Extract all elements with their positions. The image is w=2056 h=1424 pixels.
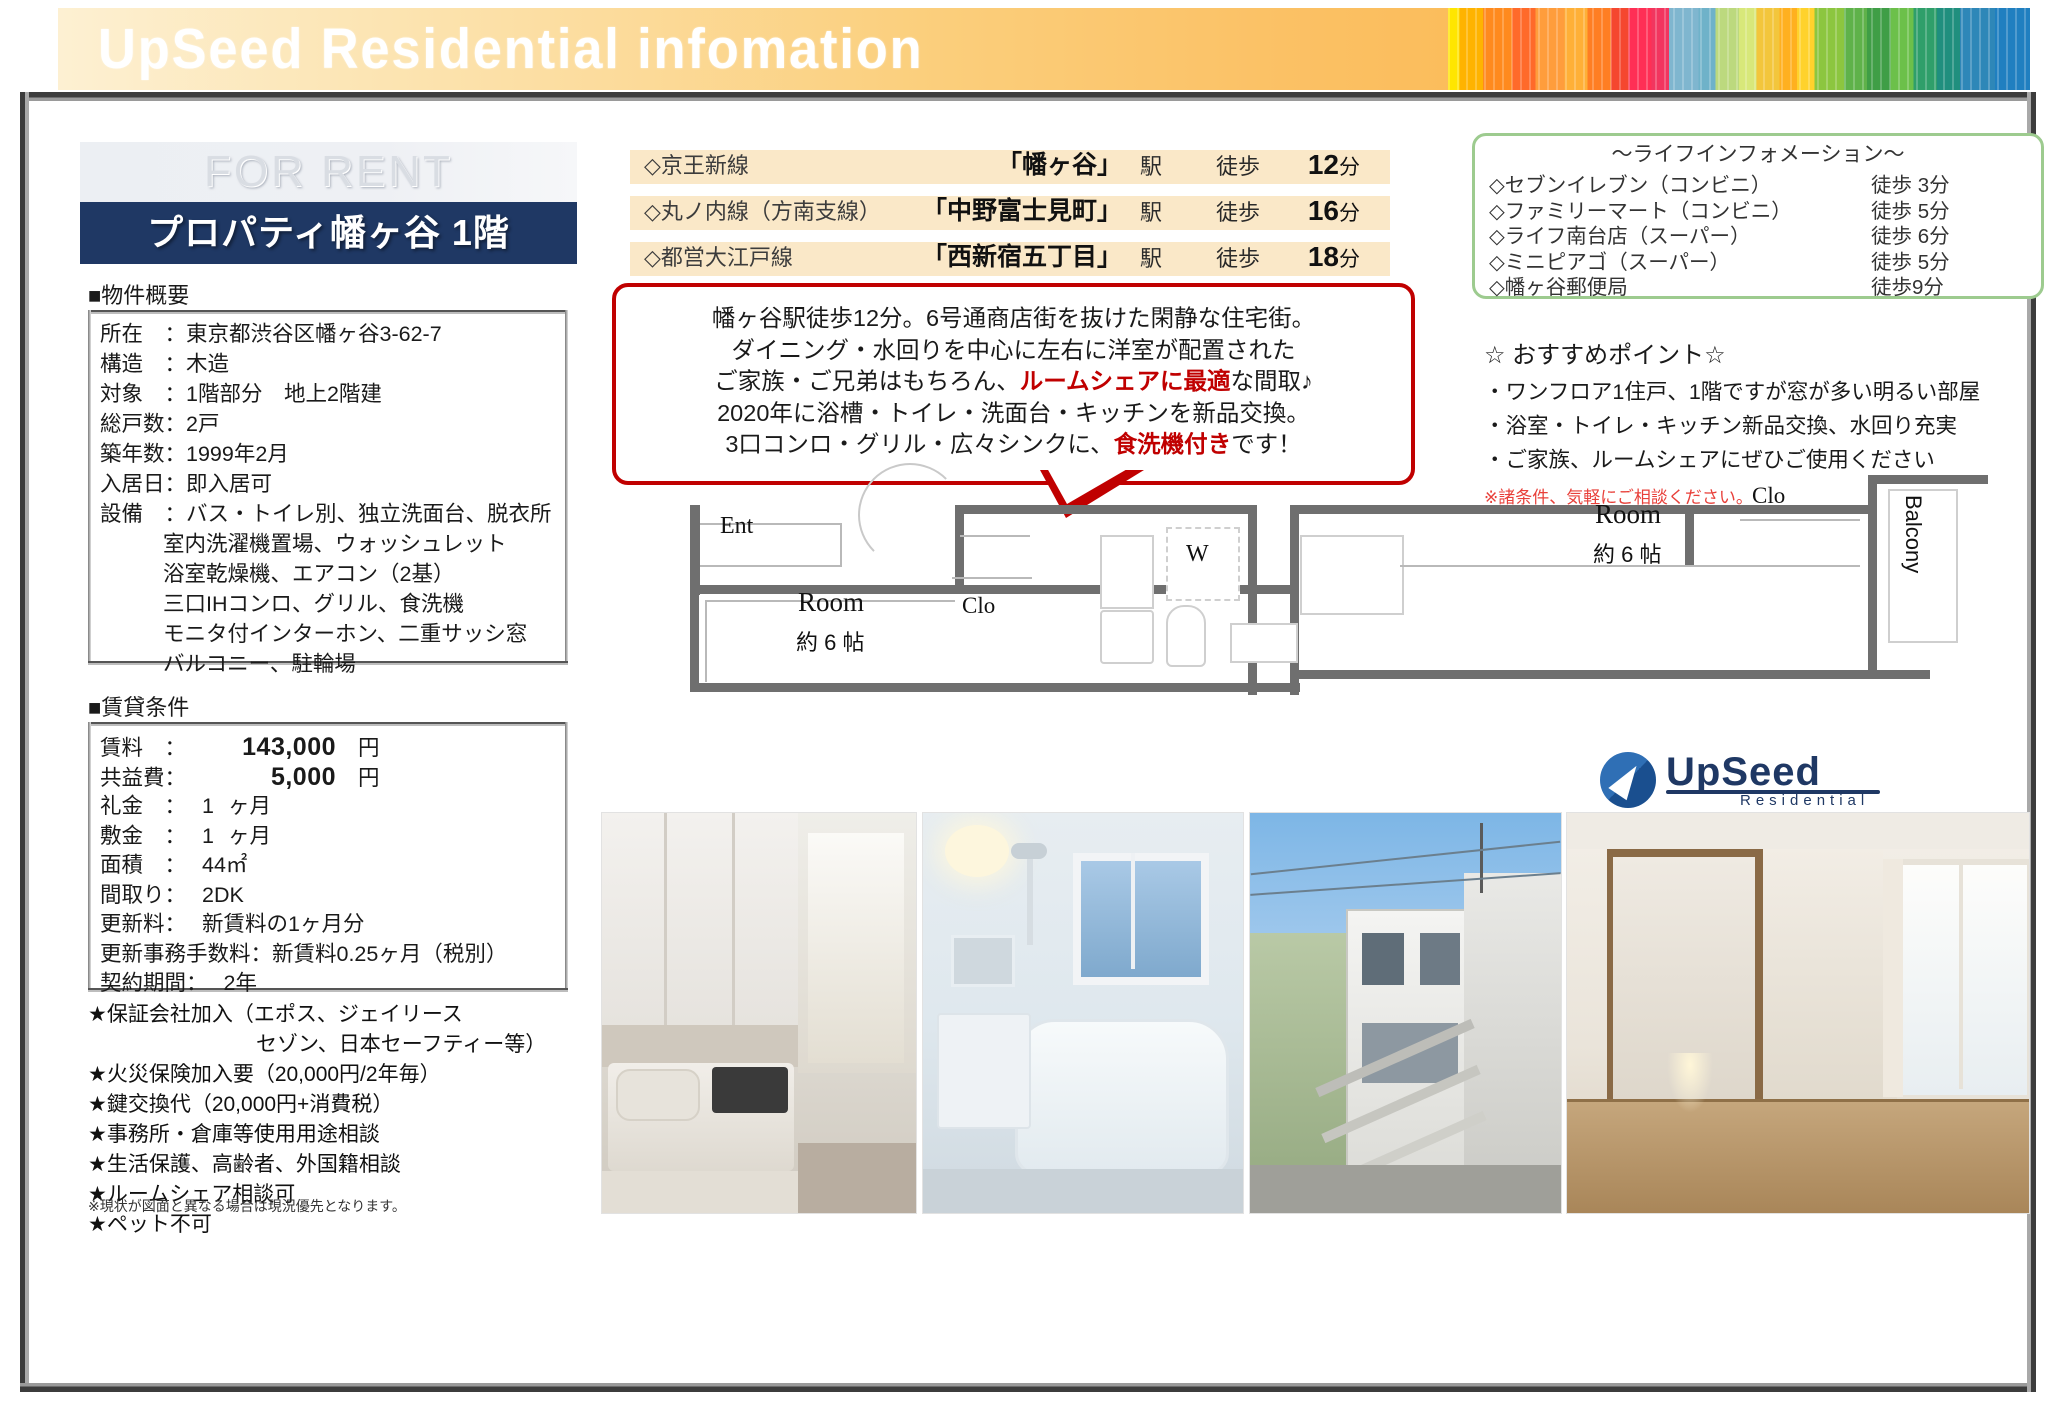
station-access-row: ◇京王新線「幡ヶ谷」駅徒歩12分 bbox=[630, 150, 1390, 184]
frame-left-border bbox=[20, 92, 29, 1392]
terms-row-value: 44㎡ bbox=[186, 851, 247, 881]
terms-row-label: 更新事務手数料：新賃料0.25ヶ月（税別） bbox=[100, 942, 507, 966]
bubble-line-3-c: な間取♪ bbox=[1231, 368, 1313, 394]
overview-equipment-row: 室内洗濯機置場、ウォッシュレット bbox=[163, 530, 507, 560]
upseed-logo-text: UpSeed bbox=[1666, 750, 1821, 795]
fp-wall bbox=[1290, 505, 1299, 695]
overview-right-rule bbox=[565, 310, 568, 665]
terms-row-label: 間取り： bbox=[100, 883, 186, 907]
fp-entrance-label: Ent bbox=[720, 513, 753, 540]
fp-line bbox=[960, 535, 1030, 537]
fp-wall bbox=[690, 683, 1300, 692]
for-rent-banner: FOR RENT bbox=[80, 142, 577, 202]
station-line-name: ◇都営大江戸線 bbox=[644, 241, 793, 275]
terms-row: 更新事務手数料：新賃料0.25ヶ月（税別） bbox=[100, 940, 507, 970]
terms-row-value: 143,000 bbox=[186, 733, 336, 763]
fp-wall bbox=[1248, 505, 1257, 695]
condition-star-item: ★火災保険加入要（20,000円/2年毎） bbox=[88, 1060, 558, 1090]
property-name-label: プロパティ幡ヶ谷 1階 bbox=[80, 202, 577, 264]
terms-row-unit: 円 bbox=[336, 766, 380, 790]
bubble-line-5-a: 3口コンロ・グリル・広々シンクに、 bbox=[725, 431, 1113, 457]
overview-row: 所在 ：東京都渋谷区幡ヶ谷3-62-7 bbox=[100, 320, 442, 350]
page-header: UpSeed Residential infomation bbox=[58, 8, 2030, 90]
fp-room-left-size: 約 6 帖 bbox=[796, 625, 864, 657]
station-walk-label: 徒歩 bbox=[1216, 242, 1260, 276]
fp-wall bbox=[1868, 475, 1988, 484]
life-information-title: ～ライフインフォメーション～ bbox=[1475, 142, 2041, 168]
footnote: ※現状が図面と異なる場合は現況優先となります。 bbox=[88, 1196, 406, 1216]
room-interior-photo bbox=[1566, 812, 2030, 1214]
terms-row-label: 面積 ： bbox=[100, 853, 186, 877]
terms-row-label: 敷金 ： bbox=[100, 824, 186, 848]
terms-row-value: 2DK bbox=[186, 881, 244, 911]
overview-equipment-row: 浴室乾燥機、エアコン（2基） bbox=[163, 560, 454, 590]
station-line-name: ◇丸ノ内線（方南支線） bbox=[644, 195, 881, 229]
terms-row: 間取り：2DK bbox=[100, 881, 244, 911]
terms-row: 礼金 ：1ヶ月 bbox=[100, 792, 271, 822]
terms-top-rule bbox=[88, 722, 568, 726]
terms-row-label: 契約期間： bbox=[100, 971, 208, 995]
overview-row: 総戸数：2戸 bbox=[100, 410, 219, 440]
station-access-row: ◇丸ノ内線（方南支線）「中野富士見町」駅徒歩16分 bbox=[630, 196, 1390, 230]
life-information-list: ◇セブンイレブン（コンビニ）徒歩 3分◇ファミリーマート（コンビニ）徒歩 5分◇… bbox=[1475, 168, 2041, 296]
station-walk-minutes: 18分 bbox=[1308, 240, 1360, 277]
terms-left-rule bbox=[88, 722, 91, 992]
fp-line bbox=[952, 577, 1032, 579]
comment-bubble: 幡ヶ谷駅徒歩12分。6号通商店街を抜けた閑静な住宅街。 ダイニング・水回りを中心… bbox=[612, 283, 1415, 485]
station-line-name: ◇京王新線 bbox=[644, 149, 749, 183]
station-name: 「中野富士見町」 bbox=[922, 194, 1122, 228]
recommended-points-list: ・ワンフロア1住戸、1階ですが窓が多い明るい部屋・浴室・トイレ・キッチン新品交換… bbox=[1484, 375, 1980, 477]
life-information-item: ◇セブンイレブン（コンビニ）徒歩 3分 bbox=[1475, 168, 2041, 194]
floor-plan: Ent Room 約 6 帖 Clo W Room 約 6 帖 Clo Balc… bbox=[600, 505, 1920, 765]
station-eki-suffix: 駅 bbox=[1140, 242, 1162, 276]
terms-row-unit: 円 bbox=[336, 736, 380, 760]
upseed-mark-icon bbox=[1600, 752, 1656, 808]
fp-wall bbox=[1685, 505, 1694, 565]
fp-line bbox=[700, 565, 840, 567]
station-eki-suffix: 駅 bbox=[1140, 196, 1162, 230]
bubble-line-3-a: ご家族・ご兄弟はもちろん、 bbox=[714, 368, 1020, 394]
terms-row-label: 共益費： bbox=[100, 766, 186, 790]
station-walk-minutes: 12分 bbox=[1308, 148, 1360, 185]
overview-row: 構造 ：木造 bbox=[100, 350, 229, 380]
station-walk-minutes: 16分 bbox=[1308, 194, 1360, 231]
fp-room-right-size: 約 6 帖 bbox=[1593, 537, 1661, 569]
overview-equipment-row: バルコニー、駐輪場 bbox=[163, 650, 356, 680]
fp-kitchen-unit bbox=[1100, 535, 1154, 609]
fp-wall bbox=[1290, 670, 1930, 679]
overview-left-rule bbox=[88, 310, 91, 665]
overview-row: 設備 ：バス・トイレ別、独立洗面台、脱衣所 bbox=[100, 500, 552, 530]
terms-heading: ■賃貸条件 bbox=[88, 690, 189, 722]
condition-star-item: ★事務所・倉庫等使用用途相談 bbox=[88, 1120, 558, 1150]
fp-balcony-label: Balcony bbox=[1900, 495, 1926, 573]
terms-row-value: 1 bbox=[186, 792, 214, 822]
fp-toilet-unit bbox=[1166, 605, 1206, 667]
terms-row-value: 新賃料の1ヶ月分 bbox=[186, 910, 364, 940]
upseed-logo: UpSeed Residential bbox=[1600, 748, 1880, 818]
fp-stove-unit bbox=[1100, 610, 1154, 664]
overview-row: 対象 ：1階部分 地上2階建 bbox=[100, 380, 382, 410]
fp-closet-left-label: Clo bbox=[962, 593, 995, 619]
overview-heading: ■物件概要 bbox=[88, 278, 189, 310]
bubble-line-1: 幡ヶ谷駅徒歩12分。6号通商店街を抜けた閑静な住宅街。 bbox=[616, 303, 1411, 335]
station-walk-label: 徒歩 bbox=[1216, 196, 1260, 230]
fp-wall bbox=[690, 505, 700, 595]
bubble-line-5: 3口コンロ・グリル・広々シンクに、食洗機付きです！ bbox=[616, 429, 1411, 461]
life-information-item-time: 徒歩9分 bbox=[1871, 270, 1944, 300]
bubble-line-5-highlight: 食洗機付き bbox=[1114, 431, 1232, 457]
station-name: 「幡ヶ谷」 bbox=[997, 148, 1122, 182]
condition-star-item: セゾン、日本セーフティー等） bbox=[88, 1030, 558, 1060]
life-information-item-name: ◇幡ヶ谷郵便局 bbox=[1489, 270, 1628, 300]
bubble-tail-inner bbox=[1047, 468, 1129, 504]
overview-top-rule bbox=[88, 310, 568, 314]
terms-row-label: 更新料： bbox=[100, 912, 186, 936]
condition-star-item: ★鍵交換代（20,000円+消費税） bbox=[88, 1090, 558, 1120]
station-walk-minutes-unit: 分 bbox=[1339, 248, 1360, 271]
exterior-photo bbox=[1249, 812, 1562, 1214]
terms-row-label: 礼金 ： bbox=[100, 794, 186, 818]
overview-row: 築年数：1999年2月 bbox=[100, 440, 289, 470]
terms-row: 更新料：新賃料の1ヶ月分 bbox=[100, 910, 364, 940]
kitchen-photo bbox=[601, 812, 917, 1214]
bubble-line-3: ご家族・ご兄弟はもちろん、ルームシェアに最適な間取♪ bbox=[616, 366, 1411, 398]
bubble-line-5-c: です！ bbox=[1231, 431, 1302, 457]
overview-row: 入居日：即入居可 bbox=[100, 470, 272, 500]
condition-star-item: ★生活保護、高齢者、外国籍相談 bbox=[88, 1150, 558, 1180]
life-information-item: ◇幡ヶ谷郵便局徒歩9分 bbox=[1475, 270, 2041, 296]
property-name-banner: プロパティ幡ヶ谷 1階 bbox=[80, 202, 577, 264]
terms-row-value: 2年 bbox=[208, 969, 257, 999]
header-divider bbox=[20, 92, 2036, 101]
fp-line bbox=[840, 523, 842, 567]
page-title: UpSeed Residential infomation bbox=[98, 10, 923, 88]
station-access-row: ◇都営大江戸線「西新宿五丁目」駅徒歩18分 bbox=[630, 242, 1390, 276]
condition-star-item: ★保証会社加入（エポス、ジェイリース bbox=[88, 1000, 558, 1030]
bathroom-photo bbox=[922, 812, 1244, 1214]
header-rainbow-band bbox=[1448, 8, 2030, 90]
recommended-point-item: ・ご家族、ルームシェアにぜひご使用ください bbox=[1484, 443, 1980, 477]
terms-row: 面積 ：44㎡ bbox=[100, 851, 247, 881]
station-walk-label: 徒歩 bbox=[1216, 150, 1260, 184]
terms-row-unit: ヶ月 bbox=[214, 824, 271, 848]
overview-equipment-row: 三口IHコンロ、グリル、食洗機 bbox=[163, 590, 464, 620]
fp-washer-label: W bbox=[1186, 541, 1209, 568]
for-rent-label: FOR RENT bbox=[80, 142, 577, 202]
station-walk-minutes-unit: 分 bbox=[1339, 202, 1360, 225]
fp-vanity-unit bbox=[1230, 623, 1298, 663]
terms-row: 賃料 ：143,000円 bbox=[100, 733, 380, 764]
fp-line bbox=[705, 600, 707, 682]
fp-wall bbox=[1868, 475, 1877, 675]
fp-bath-unit bbox=[1300, 535, 1404, 615]
life-information-item: ◇ライフ南台店（スーパー）徒歩 6分 bbox=[1475, 219, 2041, 245]
bubble-line-2: ダイニング・水回りを中心に左右に洋室が配置された bbox=[616, 335, 1411, 367]
fp-line bbox=[1740, 519, 1860, 521]
terms-row-value: 5,000 bbox=[186, 763, 336, 793]
bubble-line-4: 2020年に浴槽・トイレ・洗面台・キッチンを新品交換。 bbox=[616, 398, 1411, 430]
fp-wall bbox=[955, 505, 1255, 514]
fp-room-left-label: Room bbox=[798, 587, 864, 618]
life-information-item: ◇ミニピアゴ（スーパー）徒歩 5分 bbox=[1475, 245, 2041, 271]
fp-closet-right-label: Clo bbox=[1752, 483, 1785, 509]
recommended-point-item: ・ワンフロア1住戸、1階ですが窓が多い明るい部屋 bbox=[1484, 375, 1980, 409]
terms-row: 共益費：5,000円 bbox=[100, 763, 380, 794]
station-walk-minutes-unit: 分 bbox=[1339, 156, 1360, 179]
recommended-point-item: ・浴室・トイレ・キッチン新品交換、水回り充実 bbox=[1484, 409, 1980, 443]
life-information-box: ～ライフインフォメーション～ ◇セブンイレブン（コンビニ）徒歩 3分◇ファミリー… bbox=[1472, 133, 2044, 299]
terms-row-label: 賃料 ： bbox=[100, 736, 186, 760]
frame-bottom-border bbox=[20, 1383, 2036, 1392]
station-name: 「西新宿五丁目」 bbox=[922, 240, 1122, 274]
upseed-logo-subtext: Residential bbox=[1740, 792, 1869, 809]
station-eki-suffix: 駅 bbox=[1140, 150, 1162, 184]
bubble-line-3-highlight: ルームシェアに最適 bbox=[1020, 368, 1231, 394]
terms-row-unit: ヶ月 bbox=[214, 794, 271, 818]
fp-room-right-label: Room bbox=[1595, 499, 1661, 530]
overview-equipment-row: モニタ付インターホン、二重サッシ窓 bbox=[163, 620, 527, 650]
fp-wall bbox=[690, 585, 699, 690]
life-information-item: ◇ファミリーマート（コンビニ）徒歩 5分 bbox=[1475, 194, 2041, 220]
terms-row: 敷金 ：1ヶ月 bbox=[100, 822, 271, 852]
terms-row: 契約期間：2年 bbox=[100, 969, 257, 999]
terms-right-rule bbox=[565, 722, 568, 992]
recommended-points-title: ☆ おすすめポイント☆ bbox=[1484, 335, 1726, 370]
fp-door-arc bbox=[858, 463, 962, 567]
terms-row-value: 1 bbox=[186, 822, 214, 852]
